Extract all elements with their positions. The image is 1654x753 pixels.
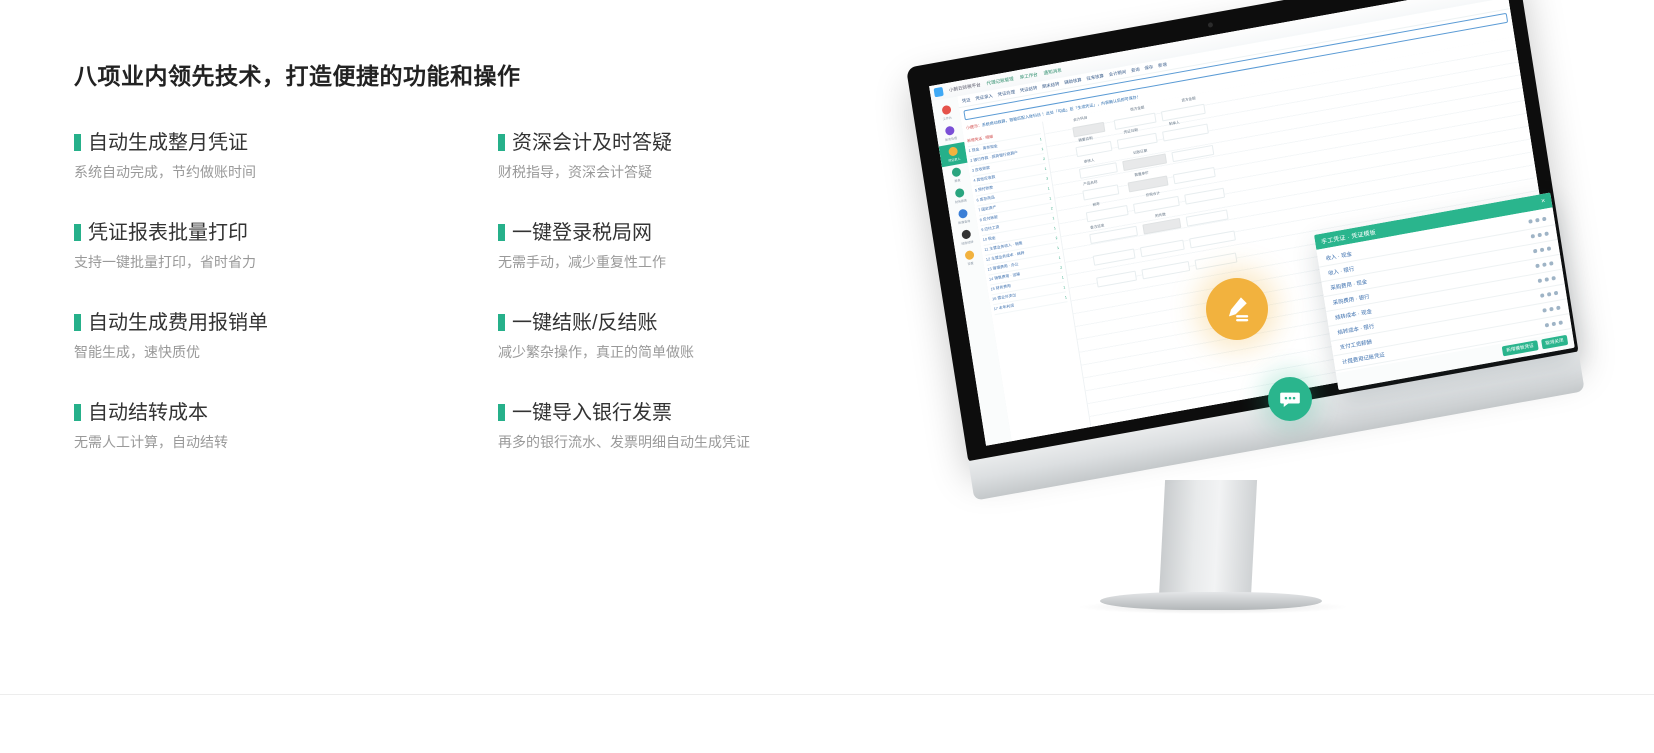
workbench-icon [941,105,951,115]
delete-icon[interactable] [1544,231,1549,236]
sheet-cell[interactable] [1171,145,1214,162]
column-header: 数量单价 [1134,171,1149,178]
feature-item-4: 一键登录税局网 无需手动，减少重复性工作 [498,222,922,312]
tree-row-count: 1 [1041,146,1043,150]
feature-head: 一键结账/反结账 [498,312,922,334]
edit-icon[interactable] [1535,264,1540,269]
delete-icon[interactable] [1551,276,1556,281]
sidebar-item-label: 报表 [954,177,961,183]
menu-item-voucher[interactable]: 凭证 [961,97,971,104]
sheet-cell[interactable] [1075,141,1112,157]
copy-icon[interactable] [1544,277,1549,282]
column-header: 会计科目 [1073,116,1088,123]
sheet-cell[interactable] [1093,248,1136,265]
toolbar-button-period[interactable]: 会计期间 [1108,69,1126,78]
content-column: 八项业内领先技术，打造便捷的功能和操作 自动生成整月凭证 系统自动完成，节约做账… [74,62,904,492]
edit-icon[interactable] [1545,323,1550,328]
tree-row-count: 1 [1047,186,1049,190]
sidebar-item-label: 设置 [967,260,974,266]
copy-icon[interactable] [1552,322,1557,327]
edit-icon[interactable] [1533,249,1538,254]
feature-title: 一键结账/反结账 [512,312,658,334]
feature-item-8: 一键导入银行发票 再多的银行流水、发票明细自动生成凭证 [498,402,922,492]
sheet-cell[interactable] [1128,175,1169,192]
feature-description: 系统自动完成，节约做账时间 [74,163,498,181]
sheet-cell[interactable] [1122,153,1167,171]
feature-title: 自动结转成本 [88,402,208,424]
feature-item-1: 自动生成整月凭证 系统自动完成，节约做账时间 [74,132,498,222]
feature-description: 再多的银行流水、发票明细自动生成凭证 [498,433,922,451]
menu-item-aux-accounting[interactable]: 辅助核算 [1064,77,1082,86]
feature-item-3: 凭证报表批量打印 支持一键批量打印，省时省力 [74,222,498,312]
feature-title: 自动生成整月凭证 [88,132,248,154]
tree-row-count: 1 [1058,255,1060,259]
list-item-label: 支付工资薪酬 [1339,338,1372,352]
closing-icon [961,229,971,239]
tree-row-label: 7 固定资产 [978,205,997,213]
list-item-label: 计提费用记账凭证 [1342,350,1386,366]
feature-item-7: 自动结转成本 无需人工计算，自动结转 [74,402,498,492]
row-actions[interactable] [1540,291,1558,298]
copy-icon[interactable] [1547,292,1552,297]
edit-fab-button[interactable] [1206,278,1268,340]
feature-head: 一键导入银行发票 [498,402,922,424]
feature-head: 资深会计及时答疑 [498,132,922,154]
tree-row-label: 6 库存商品 [976,195,995,203]
sidebar-item-settings[interactable]: 设置 [955,246,984,271]
voucher-entry-icon [948,146,958,156]
page-title: 八项业内领先技术，打造便捷的功能和操作 [74,62,904,92]
feature-grid: 自动生成整月凭证 系统自动完成，节约做账时间 资深会计及时答疑 财税指导，资深会… [74,132,904,492]
app-window-title: 代理记账管理 [986,76,1014,87]
row-actions[interactable] [1533,246,1551,253]
feature-item-5: 自动生成费用报销单 智能生成，速快质优 [74,312,498,402]
menu-item-period-end[interactable]: 期末结转 [1042,81,1060,90]
edit-icon[interactable] [1538,278,1543,283]
sidebar-item-label: 结账结转 [961,239,974,246]
sheet-cell[interactable] [1117,133,1158,150]
sheet-cell[interactable] [1082,184,1119,200]
column-header: 备注信息 [1090,223,1105,230]
sheet-cell[interactable] [1133,196,1180,214]
feature-title: 一键登录税局网 [512,222,652,244]
sheet-cell[interactable] [1141,261,1190,279]
tree-row-count: 1 [1063,285,1065,289]
bullet-marker-icon [74,224,81,241]
sheet-cell[interactable] [1189,230,1236,248]
delete-icon[interactable] [1547,246,1552,251]
feature-description: 智能生成，速快质优 [74,343,498,361]
delete-icon[interactable] [1558,320,1563,325]
tree-row-count: 1 [1044,166,1046,170]
tree-row-label: 17 本年利润 [993,304,1014,313]
sheet-cell[interactable] [1142,218,1181,235]
chat-fab-button[interactable] [1268,377,1312,421]
delete-icon[interactable] [1556,306,1561,311]
feature-head: 自动生成整月凭证 [74,132,498,154]
column-header: 附件数 [1155,212,1166,219]
tree-row-label: 9 应付工资 [981,225,1000,233]
row-actions[interactable] [1528,217,1546,224]
column-header: 摘要说明 [1078,136,1093,143]
menu-item-voucher-entry[interactable]: 凭证录入 [975,93,993,102]
chat-bubble-icon [1279,388,1301,410]
feature-head: 自动结转成本 [74,402,498,424]
bullet-marker-icon [498,404,505,421]
list-item-label: 收入 · 银行 [1328,264,1355,277]
app-logo-icon [934,87,944,97]
section-divider [0,694,1654,695]
sheet-cell[interactable] [1195,253,1238,270]
feature-section-page: 八项业内领先技术，打造便捷的功能和操作 自动生成整月凭证 系统自动完成，节约做账… [0,0,1654,753]
financial-report-icon [954,188,964,198]
tree-row-count: 2 [1055,235,1057,239]
sheet-cell[interactable] [1072,122,1105,138]
feature-head: 凭证报表批量打印 [74,222,498,244]
sheet-cell[interactable] [1096,271,1137,288]
tree-row-count: 1 [1061,275,1063,279]
tree-row-count: 2 [1043,156,1045,160]
list-item-label: 收入 · 现金 [1325,250,1352,263]
product-screenshot-illustration: 小鹅云财税平台 代理记账管理 单工作台 通知消息 工作台 账务处理 [900,40,1600,650]
tree-row-count: 1 [1049,196,1051,200]
topbar-tab-notifications[interactable]: 通知消息 [1043,67,1062,76]
sidebar-item-label: 工作台 [942,115,952,121]
column-header: 产品名称 [1083,180,1098,187]
feature-description: 无需手动，减少重复性工作 [498,253,922,271]
tree-row-label: 10 税金 [983,236,996,243]
pencil-icon [1222,294,1252,324]
tree-row-label: 5 预付账款 [975,185,994,193]
column-header: 记账日期 [1133,149,1148,156]
sidebar-item-label: 财务报表 [954,198,967,205]
delete-icon[interactable] [1542,217,1547,222]
toolbar-button-query[interactable]: 查询 [1131,67,1141,74]
monitor-stand-neck [1159,480,1257,598]
feature-item-2: 资深会计及时答疑 财税指导，资深会计答疑 [498,132,922,222]
accounting-icon [944,126,954,136]
tree-row-label: 3 应收账款 [972,166,991,174]
sheet-cell[interactable] [1161,104,1206,122]
tree-row-count: 2 [1050,206,1052,210]
copy-icon[interactable] [1535,218,1540,223]
add-template-button[interactable]: 新增模板凭证 [1502,340,1539,356]
tree-row-label: 15 财务费用 [990,284,1011,293]
feature-title: 自动生成费用报销单 [88,312,268,334]
sidebar-item-label: 凭证录入 [948,156,961,163]
feature-item-6: 一键结账/反结账 减少繁杂操作，真正的简单做账 [498,312,922,402]
menu-item-current-accounts[interactable]: 往来核算 [1086,73,1104,82]
bullet-marker-icon [498,224,505,241]
sheet-cell[interactable] [1140,240,1185,258]
feature-head: 一键登录税局网 [498,222,922,244]
copy-icon[interactable] [1540,248,1545,253]
topbar-tab-workbench[interactable]: 单工作台 [1019,71,1038,80]
hint-prefix: 小提示： [966,123,983,131]
monitor-stand-base [1100,592,1322,610]
row-actions[interactable] [1535,261,1553,268]
sidebar-item-label: 账务处理 [944,135,957,142]
edit-icon[interactable] [1531,234,1536,239]
tree-row-label: 8 应付账款 [979,215,998,223]
copy-icon[interactable] [1542,262,1547,267]
feature-description: 支持一键批量打印，省时省力 [74,253,498,271]
gear-icon [964,250,974,260]
tree-row-count: 1 [1057,245,1059,249]
column-header: 税率 [1092,202,1100,208]
close-icon[interactable]: × [1541,198,1546,206]
row-actions[interactable] [1545,320,1563,327]
feature-description: 无需人工计算，自动结转 [74,433,498,451]
tree-row-count: 1 [1065,295,1067,299]
feature-description: 财税指导，资深会计答疑 [498,163,922,181]
report-icon [951,167,961,177]
copy-icon[interactable] [1549,307,1554,312]
bullet-marker-icon [498,314,505,331]
tree-row-count: 1 [1054,226,1056,230]
tree-row-count: 3 [1046,176,1048,180]
search-icon [957,209,967,219]
feature-title: 一键导入银行发票 [512,402,672,424]
bullet-marker-icon [74,314,81,331]
column-header: 借方金额 [1130,105,1145,112]
copy-icon[interactable] [1537,233,1542,238]
column-header: 凭证日期 [1123,128,1138,135]
row-actions[interactable] [1538,276,1556,283]
cancel-button[interactable]: 取消关闭 [1541,335,1569,350]
tree-row-count: 1 [1040,137,1042,141]
sheet-cell[interactable] [1184,188,1225,205]
feature-title: 凭证报表批量打印 [88,222,248,244]
delete-icon[interactable] [1554,291,1559,296]
column-header: 贷方金额 [1181,96,1196,103]
feature-title: 资深会计及时答疑 [512,132,672,154]
feature-description: 减少繁杂操作，真正的简单做账 [498,343,922,361]
row-actions[interactable] [1542,306,1560,313]
app-brand: 小鹅云财税平台 [949,82,982,94]
edit-icon[interactable] [1528,219,1533,224]
feature-head: 自动生成费用报销单 [74,312,498,334]
menu-item-voucher-carryover[interactable]: 凭证结转 [1019,85,1037,94]
toolbar-button-add[interactable]: 新增 [1158,62,1168,69]
column-header: 价税合计 [1146,191,1161,198]
bullet-marker-icon [74,134,81,151]
tree-row-count: 2 [1060,265,1062,269]
bullet-marker-icon [498,134,505,151]
toolbar-button-save[interactable]: 保存 [1144,64,1154,71]
column-header: 制单人 [1169,120,1180,127]
menu-item-voucher-process[interactable]: 凭证处理 [997,89,1015,98]
edit-icon[interactable] [1540,293,1545,298]
column-header: 审核人 [1084,158,1095,165]
bullet-marker-icon [74,404,81,421]
delete-icon[interactable] [1549,261,1554,266]
edit-icon[interactable] [1542,308,1547,313]
sheet-cell[interactable] [1173,167,1216,184]
sidebar-item-label: 账簿查询 [957,218,970,225]
row-actions[interactable] [1531,231,1549,238]
tree-row-count: 1 [1052,216,1054,220]
sheet-cell[interactable] [1186,209,1229,226]
